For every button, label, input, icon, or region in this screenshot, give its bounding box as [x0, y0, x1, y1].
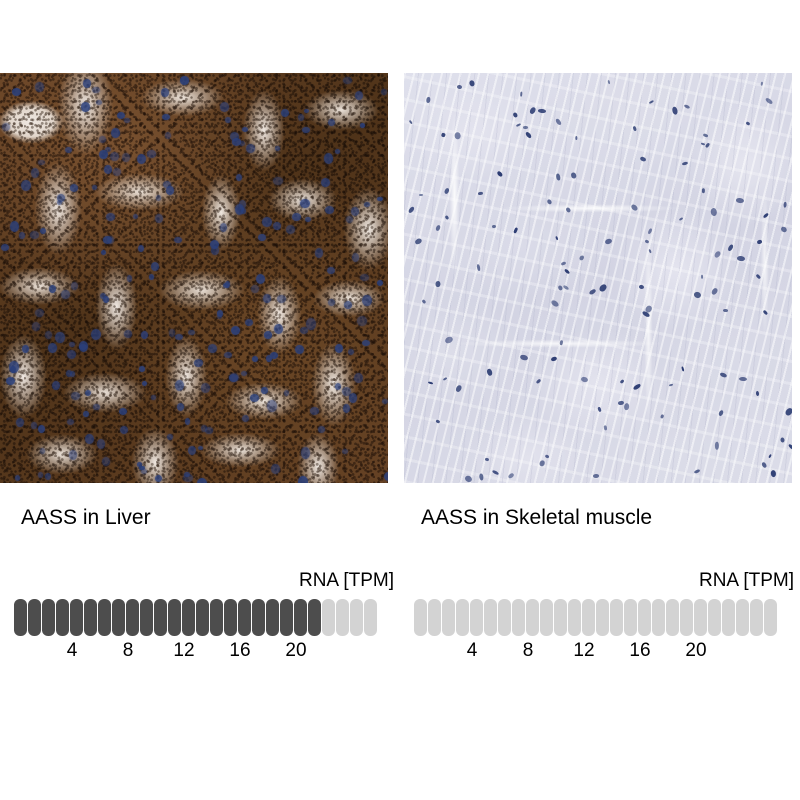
cell-nucleus	[538, 109, 546, 113]
ihc-figure: AASS in Liver AASS in Skeletal muscle RN…	[0, 0, 800, 800]
cell-nucleus	[362, 340, 371, 347]
cell-nucleus	[45, 473, 51, 480]
cell-nucleus	[220, 223, 227, 232]
cell-nucleus	[478, 191, 483, 195]
cell-nucleus	[342, 449, 348, 454]
cell-nucleus	[507, 473, 514, 479]
cell-nucleus	[185, 418, 190, 424]
cell-nucleus	[321, 178, 331, 187]
muscle-nuclei-layer	[404, 73, 792, 483]
cell-nucleus	[271, 464, 280, 474]
cell-nucleus	[149, 274, 155, 280]
cell-nucleus	[632, 126, 637, 132]
cell-nucleus	[225, 117, 230, 123]
cell-nucleus	[16, 418, 23, 427]
gauge-segment	[364, 599, 377, 636]
cell-nucleus	[110, 152, 119, 161]
cell-nucleus	[565, 207, 571, 213]
cell-nucleus	[223, 283, 228, 288]
cell-nucleus	[477, 264, 481, 271]
cell-nucleus	[780, 225, 788, 232]
cell-nucleus	[57, 200, 63, 206]
cell-nucleus	[327, 267, 334, 274]
gauge-segments-skeletal-muscle[interactable]	[414, 599, 777, 636]
gauge-segment	[554, 599, 567, 636]
cell-nucleus	[275, 146, 281, 151]
gauge-tick: 12	[173, 640, 194, 662]
cell-nucleus	[763, 310, 768, 315]
cell-nucleus	[746, 121, 751, 126]
cell-nucleus	[364, 202, 370, 207]
cell-nucleus	[139, 366, 145, 371]
cell-nucleus	[205, 427, 213, 433]
gauge-tick: 16	[629, 640, 650, 662]
cell-nucleus	[71, 282, 78, 290]
gauge-segment	[28, 599, 41, 636]
cell-nucleus	[325, 206, 334, 214]
cell-nucleus	[273, 177, 283, 185]
cell-nucleus	[151, 262, 160, 271]
cell-nucleus	[544, 454, 549, 459]
cell-nucleus	[513, 111, 518, 117]
cell-nucleus	[563, 284, 570, 290]
cell-nucleus	[71, 392, 80, 400]
cell-nucleus	[702, 188, 705, 193]
cell-nucleus	[738, 377, 746, 381]
gauge-segment	[470, 599, 483, 636]
cell-nucleus	[351, 207, 360, 216]
cell-nucleus	[258, 234, 266, 242]
cell-nucleus	[384, 472, 388, 482]
cell-nucleus	[519, 354, 528, 361]
cell-nucleus	[107, 236, 114, 244]
cell-nucleus	[335, 149, 340, 154]
gauge-segment	[736, 599, 749, 636]
cell-nucleus	[292, 213, 301, 221]
cell-nucleus	[563, 268, 570, 275]
gauge-segment	[722, 599, 735, 636]
cell-nucleus	[683, 104, 689, 109]
gauge-segment	[512, 599, 525, 636]
cell-nucleus	[267, 400, 277, 412]
cell-nucleus	[649, 100, 654, 105]
cell-nucleus	[335, 344, 343, 353]
cell-nucleus	[263, 294, 271, 303]
cell-nucleus	[315, 248, 323, 258]
gauge-segment	[210, 599, 223, 636]
gauge-segment	[182, 599, 195, 636]
cell-nucleus	[45, 331, 52, 340]
gauge-segment	[196, 599, 209, 636]
cell-nucleus	[70, 184, 78, 191]
cell-nucleus	[124, 118, 130, 123]
cell-nucleus	[603, 425, 607, 430]
cell-nucleus	[648, 249, 652, 253]
cell-nucleus	[103, 296, 109, 303]
cell-nucleus	[295, 345, 303, 354]
cell-nucleus	[464, 475, 473, 483]
gauge-segment	[280, 599, 293, 636]
cell-nucleus	[703, 134, 709, 139]
gauge-segment	[428, 599, 441, 636]
gauge-segment	[126, 599, 139, 636]
cell-nucleus	[69, 450, 77, 460]
cell-nucleus	[343, 77, 352, 84]
cell-nucleus	[436, 281, 441, 287]
cell-nucleus	[377, 197, 382, 202]
cell-nucleus	[357, 316, 367, 326]
cell-nucleus	[791, 139, 792, 147]
cell-nucleus	[220, 102, 229, 111]
cell-nucleus	[736, 198, 744, 204]
cell-nucleus	[231, 326, 240, 335]
cell-nucleus	[736, 255, 744, 261]
cell-nucleus	[551, 300, 560, 308]
cell-nucleus	[419, 194, 423, 196]
cell-nucleus	[486, 368, 493, 377]
cell-nucleus	[102, 457, 110, 466]
cell-nucleus	[155, 214, 164, 224]
cell-nucleus	[523, 126, 528, 129]
cell-nucleus	[137, 154, 146, 164]
cell-nucleus	[274, 324, 283, 334]
cell-nucleus	[575, 136, 577, 140]
cell-nucleus	[52, 381, 60, 390]
cell-nucleus	[639, 156, 646, 162]
cell-nucleus	[9, 361, 19, 373]
cell-nucleus	[197, 478, 207, 483]
gauge-segments-liver[interactable]	[14, 599, 377, 636]
gauge-segment	[568, 599, 581, 636]
cell-nucleus	[328, 119, 335, 127]
cell-nucleus	[536, 379, 541, 384]
cell-nucleus	[693, 469, 699, 474]
cell-nucleus	[352, 253, 359, 262]
cell-nucleus	[38, 160, 45, 165]
cell-nucleus	[69, 342, 74, 347]
rna-tpm-label-skeletal-muscle: RNA [TPM]	[699, 570, 794, 592]
cell-nucleus	[1, 244, 9, 251]
cell-nucleus	[592, 474, 598, 478]
cell-nucleus	[765, 97, 774, 105]
cell-nucleus	[304, 109, 309, 114]
cell-nucleus	[155, 475, 163, 483]
cell-nucleus	[235, 204, 244, 214]
cell-nucleus	[162, 114, 170, 120]
cell-nucleus	[277, 295, 286, 303]
cell-nucleus	[246, 144, 256, 153]
gauge-segment	[624, 599, 637, 636]
cell-nucleus	[85, 390, 91, 396]
cell-nucleus	[38, 425, 45, 434]
cell-nucleus	[49, 285, 56, 294]
gauge-segment	[694, 599, 707, 636]
gauge-segment	[350, 599, 363, 636]
cell-nucleus	[93, 404, 100, 411]
cell-nucleus	[163, 181, 171, 188]
cell-nucleus	[241, 371, 247, 376]
cell-nucleus	[701, 275, 703, 279]
cell-nucleus	[619, 379, 624, 384]
cell-nucleus	[138, 245, 144, 252]
micrograph-skeletal-muscle[interactable]	[404, 73, 792, 483]
gauge-segment	[750, 599, 763, 636]
cell-nucleus	[727, 244, 733, 252]
gauge-segment	[526, 599, 539, 636]
cell-nucleus	[22, 345, 28, 353]
gauge-tick: 8	[523, 640, 534, 662]
gauge-tick: 20	[285, 640, 306, 662]
cell-nucleus	[630, 203, 638, 211]
cell-nucleus	[713, 250, 721, 258]
cell-nucleus	[761, 461, 768, 469]
gauge-segment	[56, 599, 69, 636]
gauge-segment	[14, 599, 27, 636]
cell-nucleus	[264, 331, 273, 339]
gauge-segment	[456, 599, 469, 636]
cell-nucleus	[578, 255, 584, 261]
cell-nucleus	[484, 457, 489, 461]
cell-nucleus	[435, 224, 441, 231]
cell-nucleus	[217, 310, 224, 317]
gauge-segment	[540, 599, 553, 636]
cell-nucleus	[362, 295, 372, 306]
cell-nucleus	[266, 355, 272, 362]
cell-nucleus	[167, 434, 172, 440]
cell-nucleus	[12, 88, 21, 96]
cell-nucleus	[133, 214, 138, 219]
gauge-segment	[266, 599, 279, 636]
cell-nucleus	[188, 446, 196, 456]
cell-nucleus	[348, 349, 355, 355]
cell-nucleus	[559, 340, 563, 346]
cell-nucleus	[245, 319, 253, 326]
cell-nucleus	[556, 173, 561, 180]
cell-nucleus	[769, 453, 773, 458]
cell-nucleus	[349, 393, 358, 403]
cell-nucleus	[67, 350, 77, 360]
cell-nucleus	[360, 123, 365, 128]
cell-nucleus	[456, 85, 462, 90]
caption-skeletal-muscle: AASS in Skeletal muscle	[421, 506, 652, 530]
cell-nucleus	[550, 356, 557, 362]
gauge-tick: 4	[67, 640, 78, 662]
cell-nucleus	[360, 274, 369, 281]
cell-nucleus	[19, 232, 25, 238]
cell-nucleus	[479, 473, 484, 480]
cell-nucleus	[156, 195, 161, 201]
cell-nucleus	[444, 215, 449, 220]
cell-nucleus	[104, 165, 113, 174]
cell-nucleus	[547, 199, 553, 205]
gauge-segment	[224, 599, 237, 636]
cell-nucleus	[513, 228, 518, 234]
cell-nucleus	[422, 299, 427, 304]
rna-tpm-label-liver: RNA [TPM]	[299, 570, 394, 592]
cell-nucleus	[92, 87, 100, 94]
cell-nucleus	[647, 228, 652, 234]
cell-nucleus	[720, 372, 728, 378]
cell-nucleus	[55, 332, 65, 344]
cell-nucleus	[300, 199, 310, 209]
cell-nucleus	[250, 394, 259, 402]
cell-nucleus	[382, 399, 388, 404]
cell-nucleus	[632, 383, 640, 390]
cell-nucleus	[124, 330, 132, 338]
cell-nucleus	[589, 288, 597, 295]
cell-nucleus	[300, 327, 309, 334]
cell-nucleus	[180, 76, 190, 84]
cell-nucleus	[101, 250, 106, 256]
cell-nucleus	[644, 239, 649, 243]
gauge-segment	[498, 599, 511, 636]
cell-nucleus	[61, 290, 69, 298]
cell-nucleus	[409, 120, 412, 124]
cell-nucleus	[608, 80, 611, 84]
cell-nucleus	[492, 469, 500, 475]
cell-nucleus	[414, 238, 422, 246]
cell-nucleus	[242, 415, 249, 422]
cell-nucleus	[711, 207, 718, 216]
cell-nucleus	[444, 187, 450, 194]
gauge-tick: 12	[573, 640, 594, 662]
cell-nucleus	[443, 377, 447, 380]
cell-nucleus	[120, 426, 129, 435]
gauge-segment	[154, 599, 167, 636]
gauge-segment	[708, 599, 721, 636]
cell-nucleus	[679, 217, 684, 221]
cell-nucleus	[301, 447, 310, 458]
cell-nucleus	[302, 127, 309, 134]
cell-nucleus	[32, 322, 40, 331]
cell-nucleus	[682, 161, 689, 166]
cell-nucleus	[198, 446, 203, 450]
cell-nucleus	[208, 344, 217, 353]
gauge-segment	[680, 599, 693, 636]
cell-nucleus	[224, 352, 231, 358]
cell-nucleus	[242, 127, 248, 132]
cell-nucleus	[598, 283, 608, 293]
gauge-segment	[666, 599, 679, 636]
gauge-segment	[42, 599, 55, 636]
cell-nucleus	[715, 442, 719, 450]
cell-nucleus	[83, 411, 88, 417]
cell-nucleus	[555, 118, 562, 126]
cell-nucleus	[141, 469, 147, 474]
cell-nucleus	[38, 472, 43, 478]
cell-nucleus	[35, 82, 44, 92]
cell-nucleus	[441, 132, 446, 137]
cell-nucleus	[346, 216, 353, 223]
cell-nucleus	[65, 147, 72, 153]
gauge-tick: 16	[229, 640, 250, 662]
cell-nucleus	[165, 132, 171, 139]
cell-nucleus	[48, 343, 57, 352]
cell-nucleus	[524, 131, 532, 139]
gauge-tick-labels-liver: 48121620	[14, 640, 394, 662]
cell-nucleus	[6, 377, 15, 385]
cell-nucleus	[604, 238, 612, 245]
cell-nucleus	[141, 331, 148, 339]
cell-nucleus	[97, 439, 105, 449]
cell-nucleus	[668, 383, 673, 386]
cell-nucleus	[79, 344, 87, 350]
cell-nucleus	[354, 373, 362, 383]
cell-nucleus	[780, 438, 785, 443]
cell-nucleus	[681, 367, 685, 373]
gauge-segment	[596, 599, 609, 636]
cell-nucleus	[529, 106, 537, 115]
cell-nucleus	[31, 422, 36, 428]
cell-nucleus	[201, 383, 210, 393]
cell-nucleus	[40, 228, 46, 234]
cell-nucleus	[520, 92, 523, 97]
liver-tissue-image	[0, 73, 388, 483]
gauge-segment	[238, 599, 251, 636]
cell-nucleus	[324, 153, 333, 163]
cell-nucleus	[426, 97, 431, 104]
cell-nucleus	[21, 180, 31, 191]
cell-nucleus	[306, 318, 316, 329]
cell-nucleus	[694, 291, 703, 299]
cell-nucleus	[755, 391, 759, 396]
cell-nucleus	[455, 132, 462, 140]
cell-nucleus	[119, 408, 127, 415]
gauge-segment	[112, 599, 125, 636]
cell-nucleus	[113, 168, 121, 175]
cell-nucleus	[70, 371, 75, 377]
cell-nucleus	[67, 419, 74, 425]
cell-nucleus	[328, 299, 335, 306]
cell-nucleus	[127, 275, 133, 282]
cell-nucleus	[788, 443, 792, 449]
rna-gauge-liver: RNA [TPM] 48121620	[14, 570, 394, 650]
cell-nucleus	[624, 402, 630, 410]
cell-nucleus	[705, 143, 710, 148]
cell-nucleus	[298, 476, 308, 483]
cell-nucleus	[580, 376, 588, 382]
liver-nuclei-layer	[0, 73, 388, 483]
cell-nucleus	[556, 236, 559, 240]
rna-gauge-skeletal-muscle: RNA [TPM] 48121620	[414, 570, 794, 650]
cell-nucleus	[344, 301, 352, 309]
cell-nucleus	[281, 109, 290, 118]
cell-nucleus	[96, 100, 102, 105]
micrograph-liver[interactable]	[0, 73, 388, 483]
cell-nucleus	[261, 387, 268, 395]
muscle-tissue-image	[404, 73, 792, 483]
cell-nucleus	[469, 80, 475, 87]
cell-nucleus	[335, 383, 341, 390]
cell-nucleus	[718, 409, 724, 416]
cell-nucleus	[639, 284, 645, 289]
cell-nucleus	[561, 261, 567, 266]
cell-nucleus	[252, 356, 258, 362]
gauge-segment	[652, 599, 665, 636]
cell-nucleus	[194, 359, 203, 367]
gauge-segment	[84, 599, 97, 636]
cell-nucleus	[492, 225, 496, 228]
cell-nucleus	[99, 136, 106, 144]
cell-nucleus	[343, 404, 350, 412]
cell-nucleus	[672, 106, 679, 115]
cell-nucleus	[15, 475, 20, 481]
cell-nucleus	[455, 384, 463, 393]
cell-nucleus	[31, 168, 39, 178]
cell-nucleus	[273, 222, 281, 230]
cell-nucleus	[30, 231, 39, 238]
cell-nucleus	[497, 171, 504, 178]
